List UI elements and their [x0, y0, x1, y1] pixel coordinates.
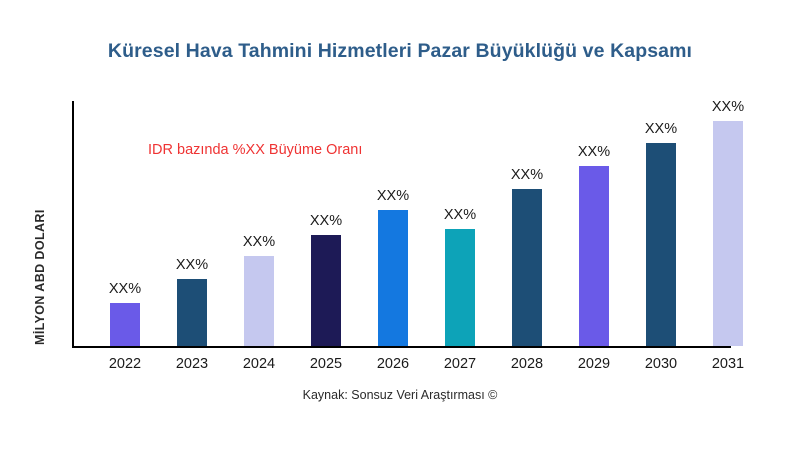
growth-rate-annotation: IDR bazında %XX Büyüme Oranı [148, 142, 362, 158]
bar-2027[interactable] [445, 229, 475, 346]
bar-2030[interactable] [646, 143, 676, 346]
bar-value-label-2022: XX% [92, 281, 158, 297]
bar-value-label-2028: XX% [494, 167, 560, 183]
x-tick-2026: 2026 [360, 356, 426, 372]
bar-value-label-2024: XX% [226, 234, 292, 250]
bar-2026[interactable] [378, 210, 408, 346]
x-tick-2029: 2029 [561, 356, 627, 372]
x-tick-2024: 2024 [226, 356, 292, 372]
bar-2029[interactable] [579, 166, 609, 346]
x-tick-2031: 2031 [695, 356, 761, 372]
bar-value-label-2029: XX% [561, 144, 627, 160]
x-tick-2027: 2027 [427, 356, 493, 372]
y-axis-label: MİLYON ABD DOLARI [33, 55, 55, 345]
bar-2025[interactable] [311, 235, 341, 346]
bar-value-label-2025: XX% [293, 213, 359, 229]
bar-2022[interactable] [110, 303, 140, 346]
x-axis-line [72, 346, 731, 348]
bar-value-label-2030: XX% [628, 121, 694, 137]
bar-value-label-2027: XX% [427, 207, 493, 223]
x-tick-2030: 2030 [628, 356, 694, 372]
bar-2031[interactable] [713, 121, 743, 346]
bar-2024[interactable] [244, 256, 274, 346]
x-tick-2022: 2022 [92, 356, 158, 372]
source-caption: Kaynak: Sonsuz Veri Araştırması © [0, 388, 800, 402]
bar-2028[interactable] [512, 189, 542, 346]
bar-2023[interactable] [177, 279, 207, 346]
bar-value-label-2031: XX% [695, 99, 761, 115]
x-tick-2025: 2025 [293, 356, 359, 372]
x-tick-2028: 2028 [494, 356, 560, 372]
y-axis-line [72, 101, 74, 348]
chart-title: Küresel Hava Tahmini Hizmetleri Pazar Bü… [0, 40, 800, 63]
chart-container: Küresel Hava Tahmini Hizmetleri Pazar Bü… [0, 0, 800, 450]
plot-area [72, 101, 780, 348]
bar-value-label-2026: XX% [360, 188, 426, 204]
x-tick-2023: 2023 [159, 356, 225, 372]
bar-value-label-2023: XX% [159, 257, 225, 273]
